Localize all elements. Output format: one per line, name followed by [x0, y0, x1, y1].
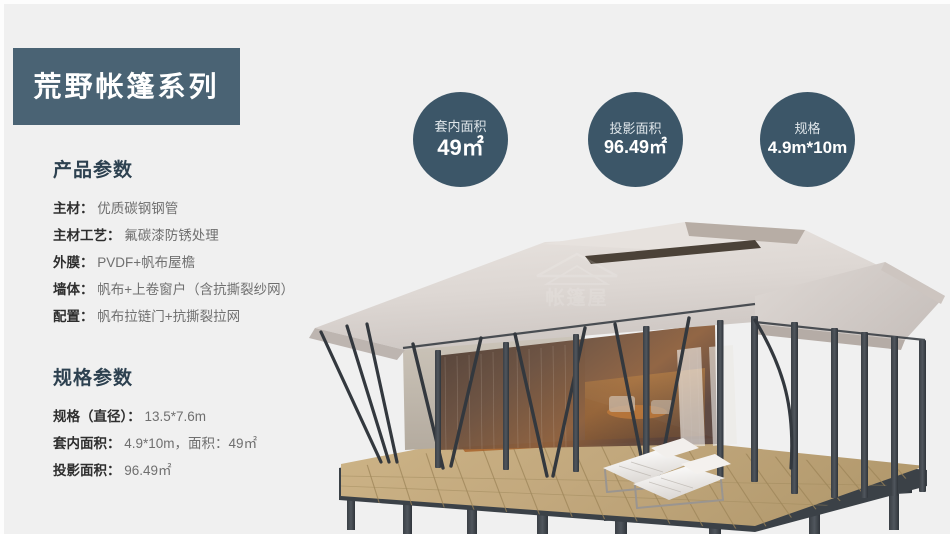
- badge-label: 套内面积: [434, 119, 486, 135]
- product-parameters-list: 主材： 优质碳钢钢管 主材工艺： 氟碳漆防锈处理 外膜： PVDF+帆布屋檐 墙…: [0, 195, 330, 330]
- badge-value: 96.49㎡: [604, 138, 667, 158]
- size-parameters-heading: 规格参数: [53, 368, 330, 391]
- spec-row: 外膜： PVDF+帆布屋檐: [53, 249, 330, 276]
- section-gap: [0, 348, 330, 368]
- spec-key: 主材：: [53, 201, 94, 216]
- svg-text:帐篷屋: 帐篷屋: [545, 286, 608, 309]
- spec-key: 墙体：: [53, 282, 94, 297]
- spec-value: 帆布拉链门+抗撕裂拉网: [97, 309, 240, 324]
- spec-row: 配置： 帆布拉链门+抗撕裂拉网: [53, 303, 330, 330]
- spec-row: 主材： 优质碳钢钢管: [53, 195, 330, 222]
- badge-label: 规格: [794, 121, 820, 137]
- spec-row: 投影面积： 96.49㎡: [53, 457, 330, 484]
- product-render-image: 帐篷屋: [285, 200, 950, 534]
- badge-projected-area[interactable]: 投影面积 96.49㎡: [588, 92, 683, 187]
- spec-value: 帆布+上卷窗户（含抗撕裂纱网）: [97, 282, 294, 297]
- size-parameters-block: 规格参数 规格（直径）： 13.5*7.6m 套内面积： 4.9*10m，面积：…: [0, 368, 330, 484]
- slide-root: 帐篷屋 荒野帐篷系列 产品参数 主材： 优质碳钢钢管 主材工艺： 氟碳漆防锈处理…: [0, 0, 950, 534]
- spec-key: 配置：: [53, 309, 94, 324]
- page-title: 荒野帐篷系列: [33, 73, 219, 101]
- tent-render-svg: 帐篷屋: [285, 200, 950, 534]
- product-parameters-block: 产品参数 主材： 优质碳钢钢管 主材工艺： 氟碳漆防锈处理 外膜： PVDF+帆…: [0, 160, 330, 330]
- badge-value: 49㎡: [437, 136, 483, 160]
- spec-key: 外膜：: [53, 255, 94, 270]
- spec-value: 氟碳漆防锈处理: [124, 228, 219, 243]
- badge-interior-area[interactable]: 套内面积 49㎡: [413, 92, 508, 187]
- specifications-panel: 产品参数 主材： 优质碳钢钢管 主材工艺： 氟碳漆防锈处理 外膜： PVDF+帆…: [0, 160, 330, 502]
- spec-key: 投影面积：: [53, 463, 121, 478]
- title-banner: 荒野帐篷系列: [13, 48, 240, 125]
- badge-value: 4.9m*10m: [768, 139, 847, 158]
- spec-value: 优质碳钢钢管: [97, 201, 178, 216]
- size-parameters-list: 规格（直径）： 13.5*7.6m 套内面积： 4.9*10m，面积：49㎡ 投…: [0, 403, 330, 484]
- badge-dimensions[interactable]: 规格 4.9m*10m: [760, 92, 855, 187]
- spec-key: 套内面积：: [53, 436, 121, 451]
- spec-value: 96.49㎡: [124, 463, 171, 478]
- spec-value: 4.9*10m，面积：49㎡: [124, 436, 257, 451]
- spec-row: 规格（直径）： 13.5*7.6m: [53, 403, 330, 430]
- spec-row: 套内面积： 4.9*10m，面积：49㎡: [53, 430, 330, 457]
- badge-label: 投影面积: [609, 121, 661, 137]
- spec-key: 主材工艺：: [53, 228, 121, 243]
- spec-value: PVDF+帆布屋檐: [97, 255, 195, 270]
- spec-key: 规格（直径）：: [53, 409, 141, 424]
- spec-row: 墙体： 帆布+上卷窗户（含抗撕裂纱网）: [53, 276, 330, 303]
- spec-row: 主材工艺： 氟碳漆防锈处理: [53, 222, 330, 249]
- product-parameters-heading: 产品参数: [53, 160, 330, 183]
- spec-value: 13.5*7.6m: [145, 409, 207, 424]
